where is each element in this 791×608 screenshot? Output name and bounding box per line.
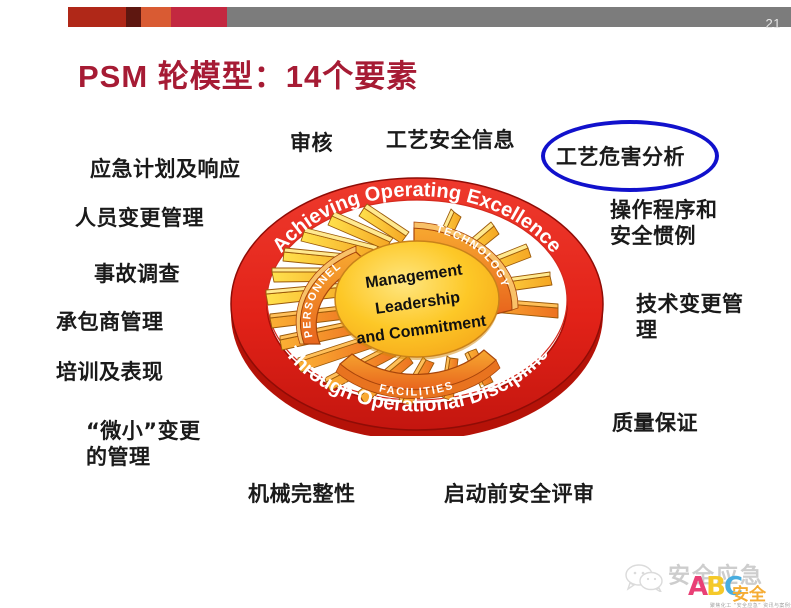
psm-wheel-diagram: Achieving Operating Excellence Through O… [228,168,606,436]
element-label-process-safety-information: 工艺安全信息 [386,128,515,154]
highlight-ellipse-process-hazard-analysis [541,120,719,192]
wechat-watermark: 安全应急 ABC 安全 聚焦化工 “安全应急” 资讯与案例分享 [620,552,791,608]
page-title: PSM 轮模型：14个要素 [78,51,418,96]
watermark-logo: ABC 安全 聚焦化工 “安全应急” 资讯与案例分享 [688,572,784,608]
element-label-training-performance: 培训及表现 [56,360,164,386]
element-label-prestartup-safety-review: 启动前安全评审 [444,482,595,508]
logo-letter-b: B [706,572,724,602]
element-label-incident-investigation: 事故调查 [94,262,180,288]
header-strip-segment-dark-red [68,7,126,27]
header-strip-segment-orange [141,7,171,27]
header-strip-segment-crimson [171,7,227,27]
header-strip-segment-gray: 21 [227,7,791,27]
element-label-operating-procedures: 操作程序和 安全惯例 [610,198,718,249]
page-number: 21 [766,15,781,33]
element-label-technology-moc: 技术变更管 理 [636,292,744,343]
element-label-contractor-management: 承包商管理 [56,310,164,336]
logo-letter-a: A [688,572,706,602]
element-label-minor-moc: “微小”变更 的管理 [86,419,201,470]
slide-canvas: 21 PSM 轮模型：14个要素 [0,0,791,608]
slide-header-bar: 21 [0,0,791,30]
element-label-mechanical-integrity: 机械完整性 [248,482,356,508]
watermark-tagline: 聚焦化工 “安全应急” 资讯与案例分享 [710,602,791,608]
wechat-icon [624,564,664,592]
element-label-personnel-moc: 人员变更管理 [75,206,204,232]
header-color-strip: 21 [68,7,791,27]
header-strip-segment-maroon [126,7,141,27]
element-label-audit: 审核 [290,131,333,157]
element-label-quality-assurance: 质量保证 [612,411,698,437]
element-label-emergency-planning: 应急计划及响应 [90,157,241,183]
